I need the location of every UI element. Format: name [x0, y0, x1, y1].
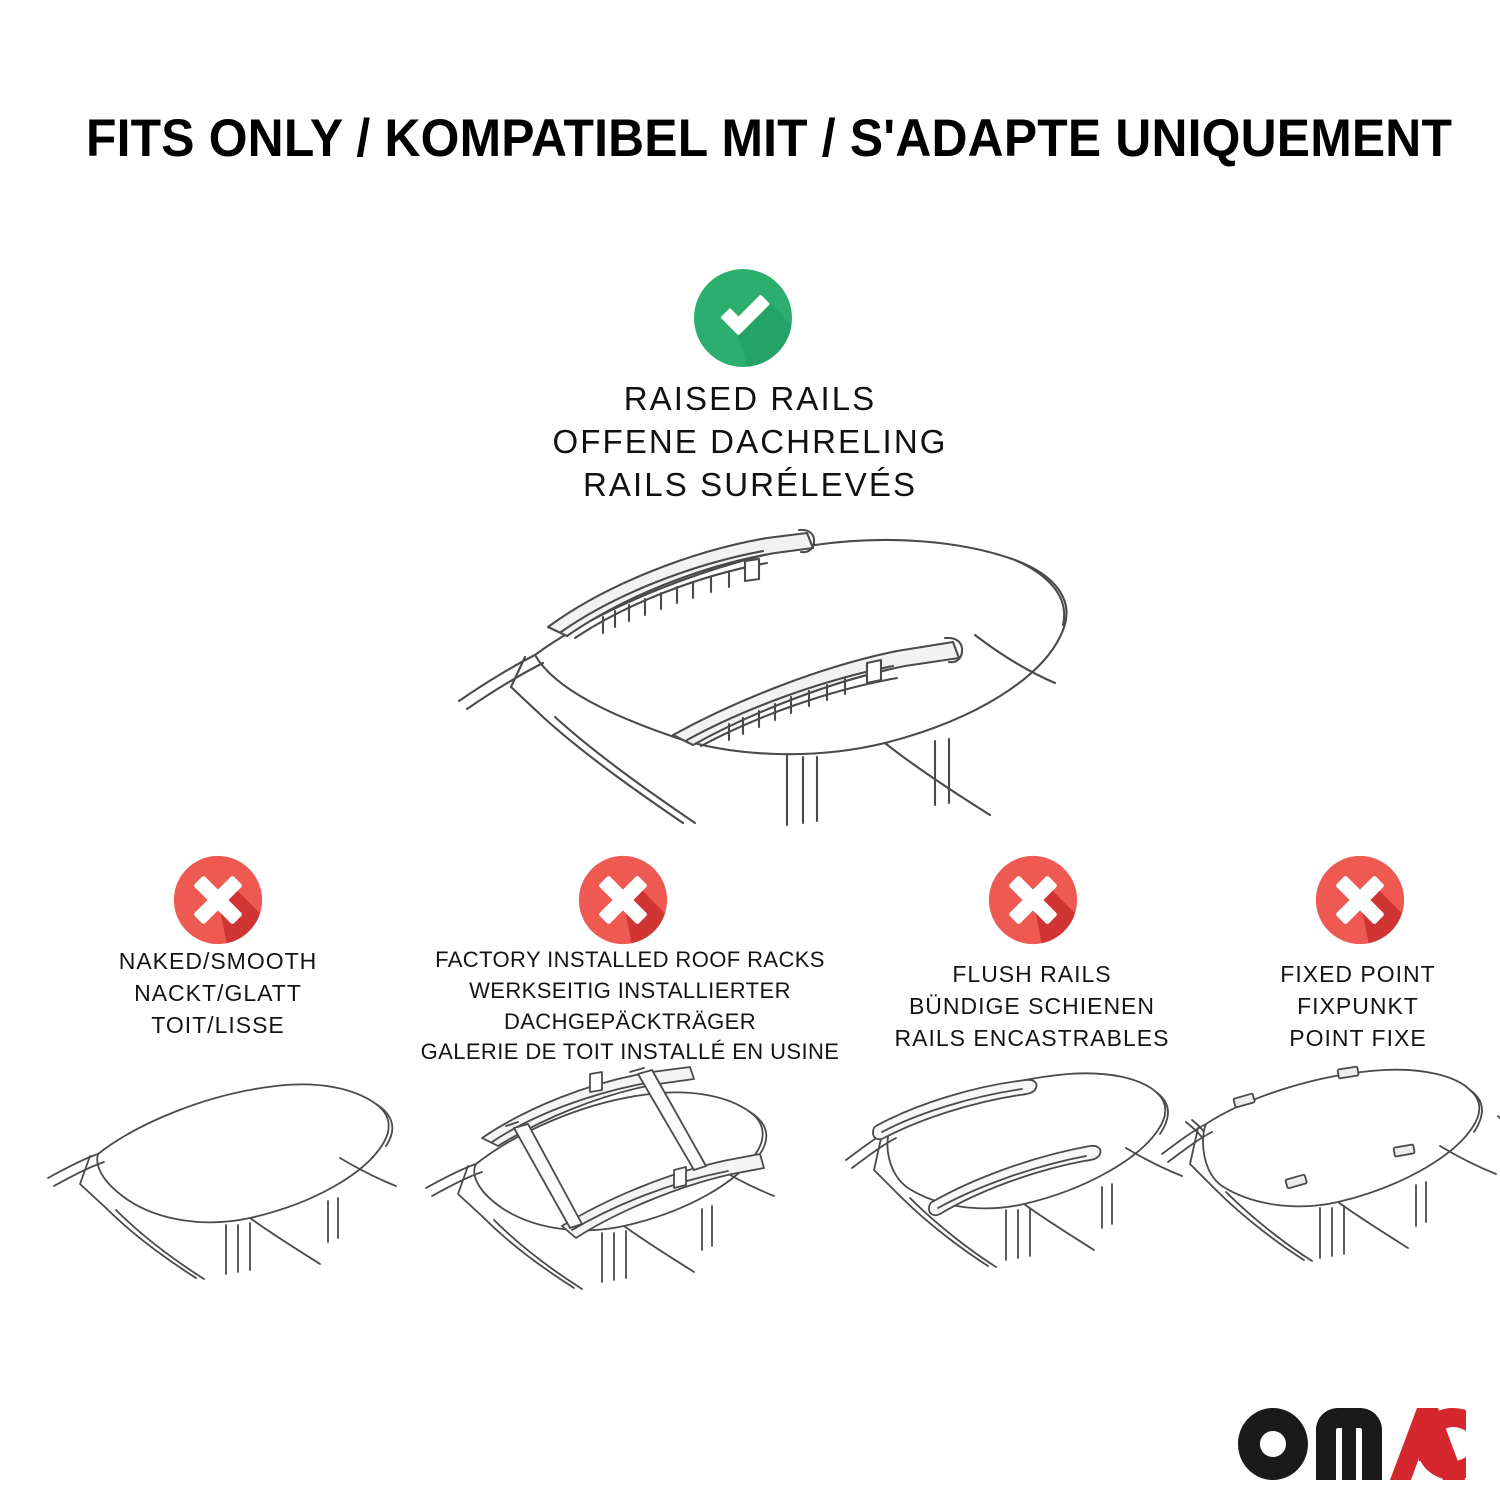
x-circle-icon: [1315, 855, 1405, 945]
label-line: FIXPUNKT: [1188, 990, 1500, 1022]
compatible-label-line-1: RAISED RAILS: [450, 378, 1050, 421]
x-circle-icon: [988, 855, 1078, 945]
compatible-label: RAISED RAILS OFFENE DACHRELING RAILS SUR…: [450, 378, 1050, 507]
label-line: NACKT/GLATT: [28, 977, 408, 1009]
car-roof-raised-rails-illustration: [415, 505, 1095, 835]
x-circle-icon: [578, 855, 668, 945]
label-line: WERKSEITIG INSTALLIERTER: [400, 976, 860, 1007]
fitment-infographic: FITS ONLY / KOMPATIBEL MIT / S'ADAPTE UN…: [0, 0, 1500, 1500]
omac-logo-m: [1316, 1408, 1382, 1480]
label-line: FLUSH RAILS: [852, 958, 1212, 990]
label-line: FIXED POINT: [1188, 958, 1500, 990]
label-line: DACHGEPÄCKTRÄGER: [400, 1007, 860, 1038]
label-line: BÜNDIGE SCHIENEN: [852, 990, 1212, 1022]
compatible-label-line-2: OFFENE DACHRELING: [450, 421, 1050, 464]
omac-logo-o: [1238, 1408, 1308, 1480]
incompatible-label-flush-rails: FLUSH RAILS BÜNDIGE SCHIENEN RAILS ENCAS…: [852, 958, 1212, 1055]
incompatible-label-naked-smooth: NAKED/SMOOTH NACKT/GLATT TOIT/LISSE: [28, 945, 408, 1042]
car-roof-naked-smooth-illustration: [40, 1062, 410, 1297]
incompatible-label-fixed-point: FIXED POINT FIXPUNKT POINT FIXE: [1188, 958, 1500, 1055]
check-circle-icon: [693, 268, 793, 368]
page-title: FITS ONLY / KOMPATIBEL MIT / S'ADAPTE UN…: [86, 108, 1346, 169]
label-line: FACTORY INSTALLED ROOF RACKS: [400, 945, 860, 976]
omac-logo: [1238, 1408, 1466, 1480]
label-line: NAKED/SMOOTH: [28, 945, 408, 977]
label-line: TOIT/LISSE: [28, 1009, 408, 1041]
label-line: RAILS ENCASTRABLES: [852, 1022, 1212, 1054]
label-line: POINT FIXE: [1188, 1022, 1500, 1054]
car-roof-factory-racks-illustration: [410, 1058, 790, 1298]
x-circle-icon: [173, 855, 263, 945]
incompatible-label-factory-racks: FACTORY INSTALLED ROOF RACKS WERKSEITIG …: [400, 945, 860, 1068]
compatible-label-line-3: RAILS SURÉLEVÉS: [450, 464, 1050, 507]
car-roof-fixed-point-illustration: [1150, 1060, 1500, 1295]
